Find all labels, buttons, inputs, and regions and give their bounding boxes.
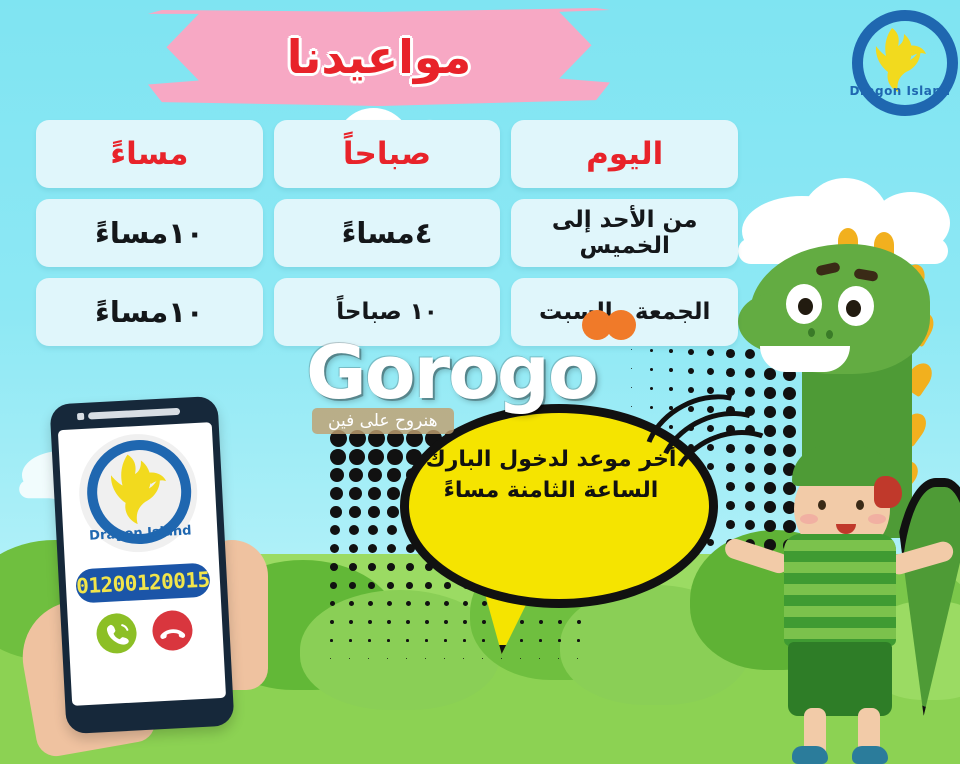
row1-day: من الأحد إلى الخميس: [511, 199, 738, 267]
phone-speaker: [88, 408, 180, 420]
call-screen-logo: Dragon Island: [76, 431, 200, 555]
poster-canvas: مواعيدنا Dragon Island: [0, 0, 960, 764]
row2-day: الجمعة والسبت: [511, 278, 738, 346]
phone-call-icon: [96, 612, 138, 654]
phone-hangup-icon: [151, 609, 193, 651]
phone-camera-dot: [77, 413, 84, 420]
phone-screen: Dragon Island 01200120015: [58, 422, 226, 706]
call-accept-button[interactable]: [96, 612, 138, 654]
table-header-row: مساءً صباحاً اليوم: [36, 120, 738, 188]
table-row: ١٠مساءً ٤مساءً من الأحد إلى الخميس: [36, 199, 738, 267]
call-decline-button[interactable]: [151, 609, 193, 651]
table-row: ١٠مساءً ١٠ صباحاً الجمعة والسبت: [36, 278, 738, 346]
header-evening: مساءً: [36, 120, 263, 188]
row1-evening: ١٠مساءً: [36, 199, 263, 267]
smartphone-mockup: Dragon Island 01200120015: [49, 396, 234, 734]
row2-morning: ١٠ صباحاً: [274, 278, 501, 346]
row1-morning: ٤مساءً: [274, 199, 501, 267]
phone-number-display: 01200120015: [75, 562, 211, 603]
schedule-table: مساءً صباحاً اليوم ١٠مساءً ٤مساءً من الأ…: [36, 120, 738, 357]
page-title: مواعيدنا: [148, 8, 610, 106]
row2-evening: ١٠مساءً: [36, 278, 263, 346]
dragon-island-logo: Dragon Island: [846, 6, 954, 114]
logo-brand-text: Dragon Island: [846, 84, 954, 98]
header-morning: صباحاً: [274, 120, 501, 188]
header-day: اليوم: [511, 120, 738, 188]
